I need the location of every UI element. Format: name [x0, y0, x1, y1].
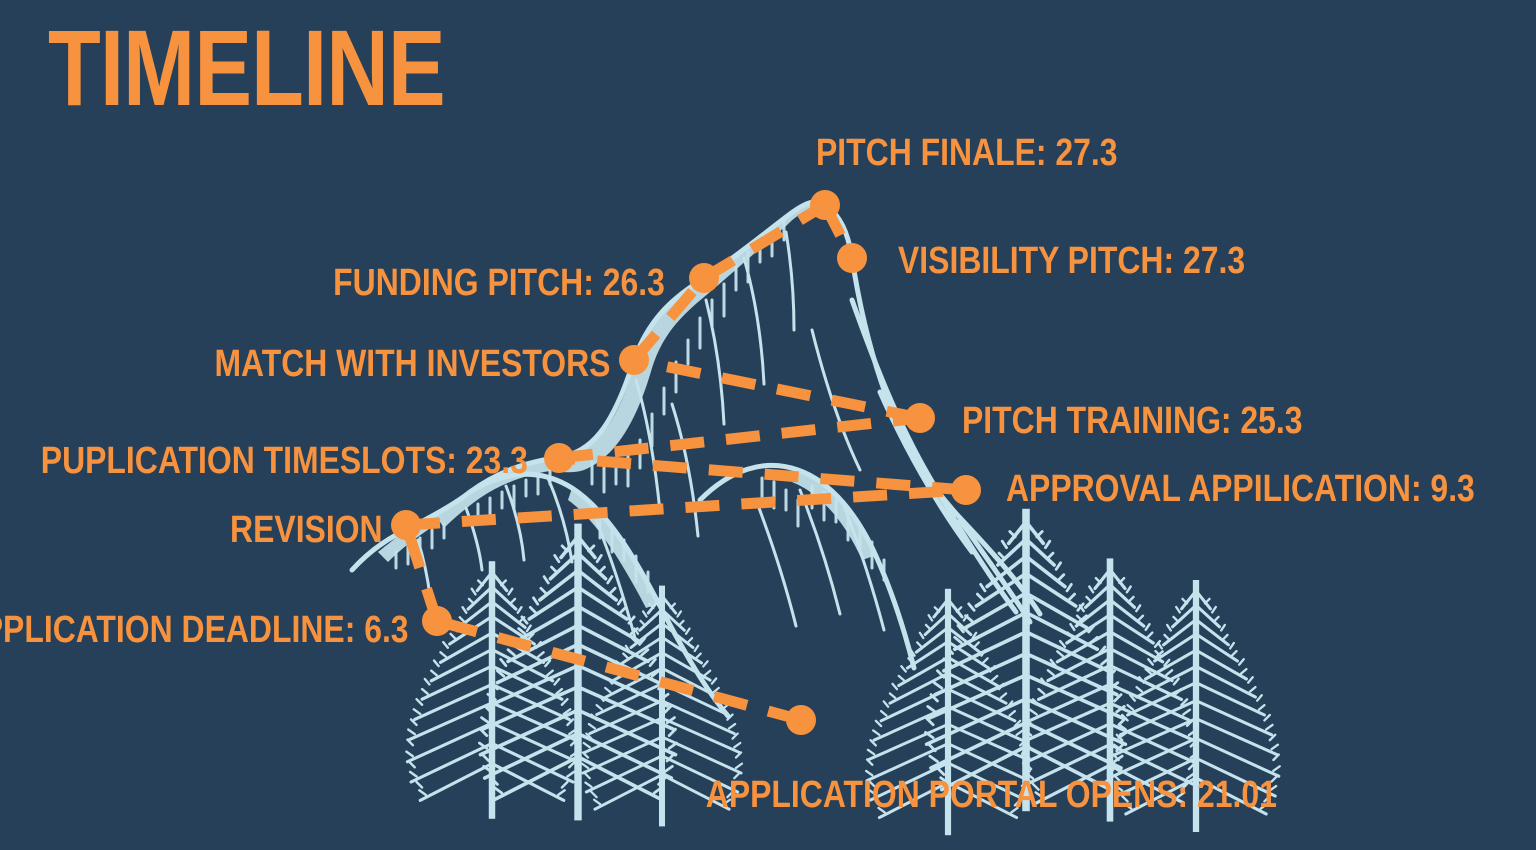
milestone-label-approval-appilication: APPROVAL APPILICATION: 9.3	[1006, 469, 1475, 509]
tree-cluster-left	[406, 524, 742, 827]
milestone-node-revision[interactable]	[391, 510, 421, 540]
milestone-label-application-portal-opens: APPLICATION PORTAL OPENS: 21.01	[706, 775, 1277, 815]
milestone-node-visibility-pitch[interactable]	[837, 243, 867, 273]
milestone-label-visibility-pitch: VISIBILITY PITCH: 27.3	[898, 241, 1245, 281]
milestone-node-application-portal-opens[interactable]	[786, 705, 816, 735]
milestone-label-puplication-timeslots: PUPLICATION TIMESLOTS: 23.3	[41, 441, 528, 481]
milestone-label-pitch-finale: PITCH FINALE: 27.3	[816, 133, 1118, 173]
milestone-label-revision: REVISION	[230, 510, 383, 550]
milestone-node-puplication-timeslots[interactable]	[544, 443, 574, 473]
timeline-poster: TIMELINE APPLICATION PORTAL OPENS: 21.01…	[0, 0, 1536, 850]
milestone-node-approval-appilication[interactable]	[951, 475, 981, 505]
milestone-label-funding-pitch: FUNDING PITCH: 26.3	[333, 263, 665, 303]
milestone-label-match-with-investors: MATCH WITH INVESTORS	[214, 344, 610, 384]
milestone-label-application-deadline: APPLICATION DEADLINE: 6.3	[0, 610, 409, 650]
connector-funding-pitch-to-pitch-finale	[704, 205, 825, 278]
milestone-node-pitch-training[interactable]	[905, 403, 935, 433]
milestone-label-pitch-training: PITCH TRAINING: 25.3	[962, 401, 1303, 441]
milestone-node-application-deadline[interactable]	[422, 606, 452, 636]
milestone-node-pitch-finale[interactable]	[810, 190, 840, 220]
milestone-node-match-with-investors[interactable]	[619, 345, 649, 375]
page-title: TIMELINE	[48, 14, 445, 122]
milestone-node-funding-pitch[interactable]	[689, 263, 719, 293]
